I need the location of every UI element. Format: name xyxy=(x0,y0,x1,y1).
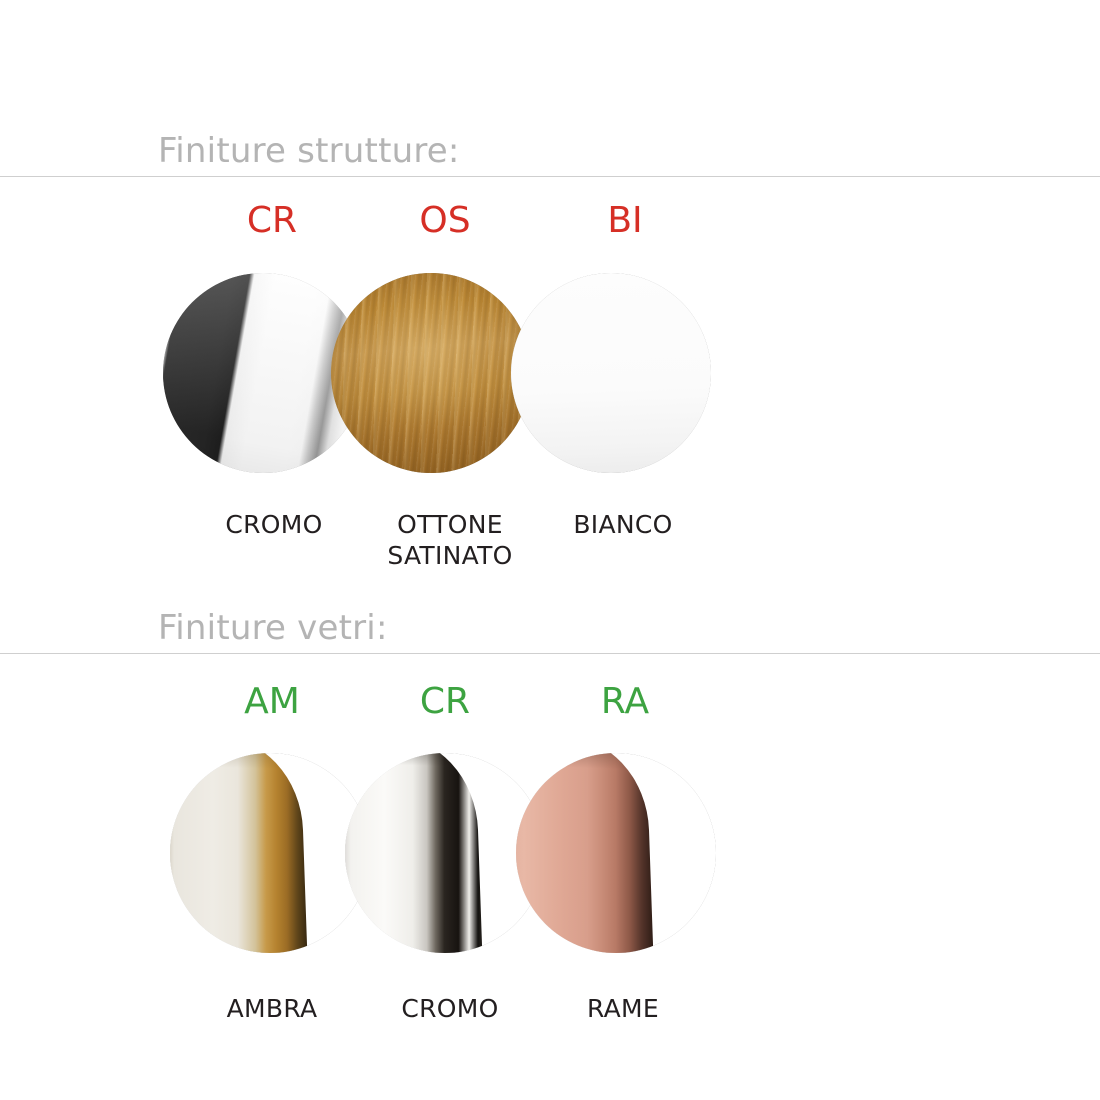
section-heading-vetri: Finiture vetri: xyxy=(158,611,388,645)
caption-rame: RAME xyxy=(551,993,695,1024)
chrome-glass-swatch[interactable] xyxy=(345,753,545,953)
copper-glass-cylinder xyxy=(516,753,654,953)
code-label-cr-vetro: CR xyxy=(385,684,505,720)
caption-ottone-satinato: OTTONE SATINATO xyxy=(361,509,539,571)
caption-cromo-vetro: CROMO xyxy=(378,993,522,1024)
white-swatch-surface xyxy=(511,273,711,473)
code-label-os-struttura: OS xyxy=(385,203,505,239)
amber-glass-cylinder xyxy=(170,753,308,953)
amber-glass-surface xyxy=(170,753,370,953)
chrome-glass-surface xyxy=(345,753,545,953)
caption-ambra: AMBRA xyxy=(200,993,344,1024)
section-divider-strutture xyxy=(0,176,1100,177)
white-swatch[interactable] xyxy=(511,273,711,473)
section-heading-strutture: Finiture strutture: xyxy=(158,134,460,168)
code-label-ra-vetro: RA xyxy=(565,684,685,720)
brass-swatch-surface xyxy=(331,273,531,473)
section-divider-vetri xyxy=(0,653,1100,654)
copper-glass-swatch[interactable] xyxy=(516,753,716,953)
caption-cromo-struttura: CROMO xyxy=(203,509,345,540)
code-label-bi-struttura: BI xyxy=(565,203,685,239)
brass-swatch[interactable] xyxy=(331,273,531,473)
chrome-glass-cylinder xyxy=(345,753,483,953)
amber-glass-swatch[interactable] xyxy=(170,753,370,953)
code-label-cr-struttura: CR xyxy=(212,203,332,239)
caption-bianco: BIANCO xyxy=(551,509,695,540)
code-label-am-vetro: AM xyxy=(212,684,332,720)
copper-glass-surface xyxy=(516,753,716,953)
